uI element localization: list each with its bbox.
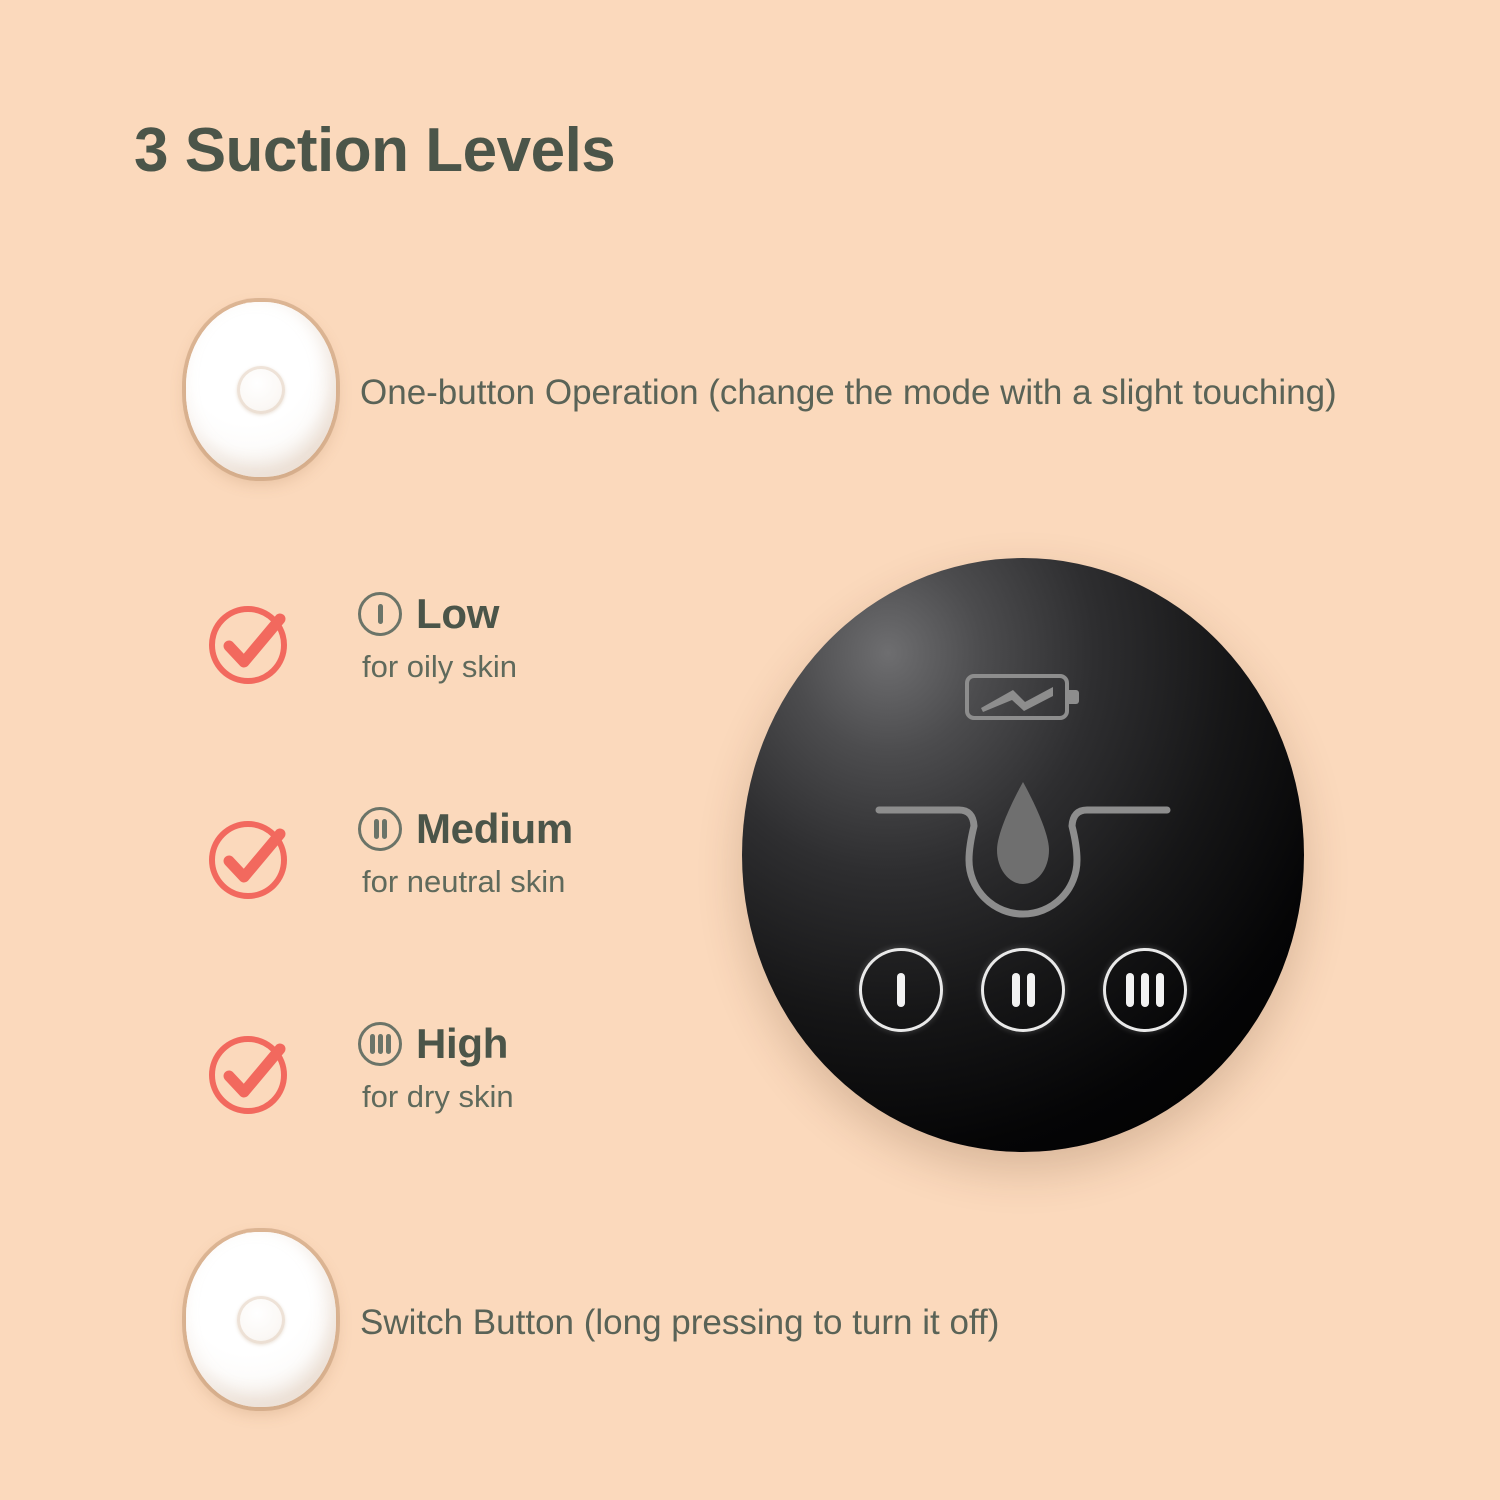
pore-droplet-icon [873, 776, 1173, 922]
power-button-nub-icon [237, 366, 285, 414]
caption-switch-button: Switch Button (long pressing to turn it … [360, 1302, 999, 1344]
level-subtitle: for neutral skin [362, 863, 573, 900]
device-level-button-high[interactable] [1103, 948, 1187, 1032]
level-name: Low [416, 593, 499, 635]
level-name: Medium [416, 808, 573, 850]
caption-one-button-operation: One-button Operation (change the mode wi… [360, 372, 1337, 414]
page-title: 3 Suction Levels [134, 118, 615, 183]
device-level-buttons [859, 948, 1187, 1032]
device-level-button-medium[interactable] [981, 948, 1065, 1032]
power-button-top[interactable] [186, 302, 336, 477]
infographic-page: 3 Suction Levels One-button Operation (c… [0, 0, 1500, 1500]
level-text-block: Low for oily skin [358, 585, 517, 685]
level-name: High [416, 1023, 508, 1065]
level-text-block: Medium for neutral skin [358, 800, 573, 900]
battery-charging-icon [965, 670, 1081, 724]
check-circle-icon [206, 599, 294, 687]
level-heading: Medium [358, 800, 573, 858]
level-text-block: High for dry skin [358, 1015, 514, 1115]
check-circle-icon [206, 1029, 294, 1117]
level-row: High for dry skin [206, 1015, 726, 1145]
level-row: Low for oily skin [206, 585, 726, 715]
device-level-button-low[interactable] [859, 948, 943, 1032]
level-numeral-badge-icon [358, 807, 402, 851]
level-heading: Low [358, 585, 517, 643]
level-row: Medium for neutral skin [206, 800, 726, 930]
level-subtitle: for dry skin [362, 1078, 514, 1115]
level-numeral-badge-icon [358, 592, 402, 636]
level-numeral-badge-icon [358, 1022, 402, 1066]
level-subtitle: for oily skin [362, 648, 517, 685]
level-heading: High [358, 1015, 514, 1073]
device-control-panel [742, 558, 1304, 1152]
power-button-bottom[interactable] [186, 1232, 336, 1407]
power-button-nub-icon [237, 1296, 285, 1344]
check-circle-icon [206, 814, 294, 902]
